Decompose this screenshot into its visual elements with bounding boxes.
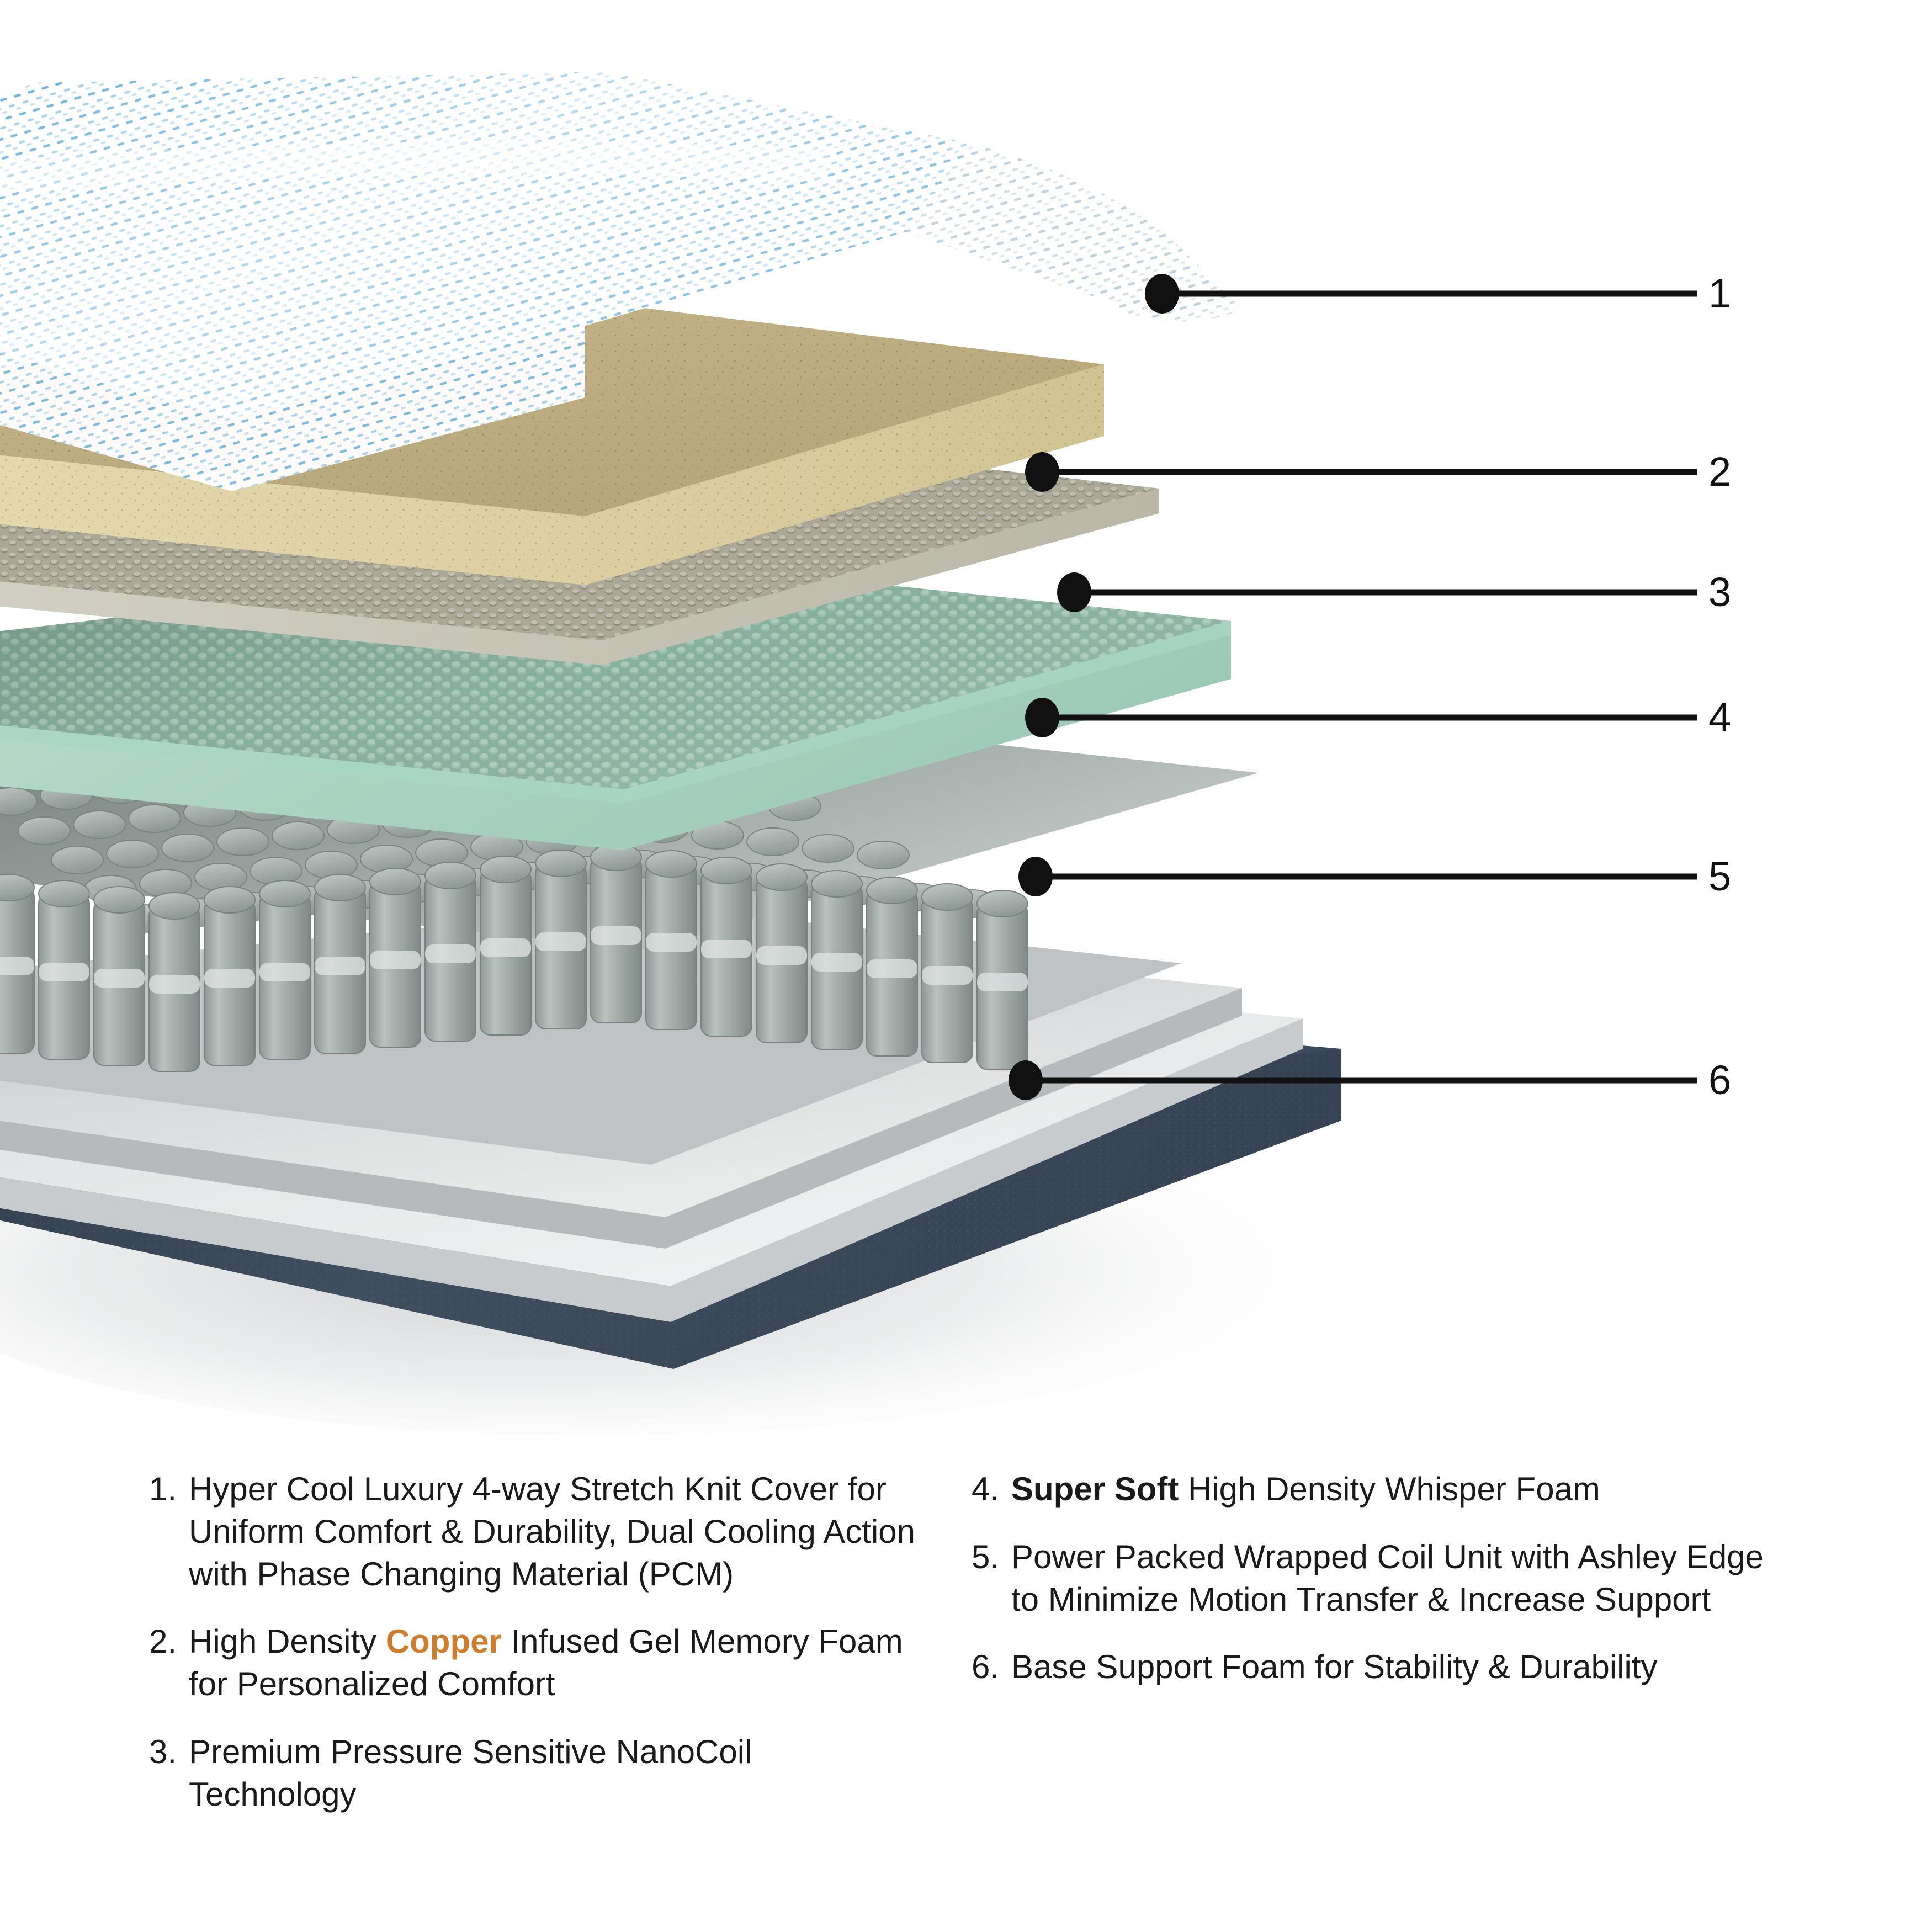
legend-text-2: High Density Copper Infused Gel Memory F…: [189, 1621, 922, 1706]
legend: 1. Hyper Cool Luxury 4-way Stretch Knit …: [0, 1468, 1932, 1932]
callout-number-4: 4: [1708, 697, 1731, 738]
legend-number-6: 6.: [972, 1646, 1011, 1689]
legend-item-6: 6. Base Support Foam for Stability & Dur…: [972, 1646, 1788, 1689]
legend-text-3: Premium Pressure Sensitive NanoCoil Tech…: [189, 1731, 922, 1816]
callout-number-3: 3: [1708, 572, 1731, 613]
leader-dot-2: [1025, 452, 1059, 492]
leader-dot-3: [1057, 572, 1091, 612]
page-root: 1 2 3 4 5 6 1. Hyper Cool Luxury 4-way S…: [0, 0, 1932, 1932]
leader-dot-5: [1018, 857, 1053, 896]
mattress-layers-svg: [0, 0, 1932, 1435]
legend-item-1: 1. Hyper Cool Luxury 4-way Stretch Knit …: [149, 1468, 922, 1595]
callout-number-2: 2: [1708, 452, 1731, 492]
legend-item-4: 4. Super Soft High Density Whisper Foam: [972, 1468, 1788, 1511]
legend-number-1: 1.: [149, 1468, 189, 1511]
legend-item-5: 5. Power Packed Wrapped Coil Unit with A…: [972, 1536, 1788, 1621]
legend-number-3: 3.: [149, 1731, 189, 1774]
leader-dot-6: [1009, 1060, 1043, 1100]
legend-number-2: 2.: [149, 1621, 189, 1663]
legend-text-5: Power Packed Wrapped Coil Unit with Ashl…: [1011, 1536, 1788, 1621]
legend-number-4: 4.: [972, 1468, 1011, 1511]
legend-text-6: Base Support Foam for Stability & Durabi…: [1011, 1646, 1788, 1689]
leader-dot-4: [1025, 698, 1059, 737]
legend-item-2: 2. High Density Copper Infused Gel Memor…: [149, 1621, 922, 1706]
legend-column-right: 4. Super Soft High Density Whisper Foam …: [972, 1468, 1788, 1714]
callout-number-1: 1: [1708, 273, 1731, 314]
legend-number-5: 5.: [972, 1536, 1011, 1579]
mattress-exploded-illustration: 1 2 3 4 5 6: [0, 0, 1932, 1435]
leader-dot-1: [1145, 274, 1179, 314]
legend-text-1: Hyper Cool Luxury 4-way Stretch Knit Cov…: [189, 1468, 922, 1595]
callout-number-5: 5: [1708, 856, 1731, 897]
legend-column-left: 1. Hyper Cool Luxury 4-way Stretch Knit …: [149, 1468, 922, 1841]
callout-number-6: 6: [1708, 1060, 1731, 1101]
legend-item-3: 3. Premium Pressure Sensitive NanoCoil T…: [149, 1731, 922, 1816]
legend-text-4: Super Soft High Density Whisper Foam: [1011, 1468, 1788, 1511]
